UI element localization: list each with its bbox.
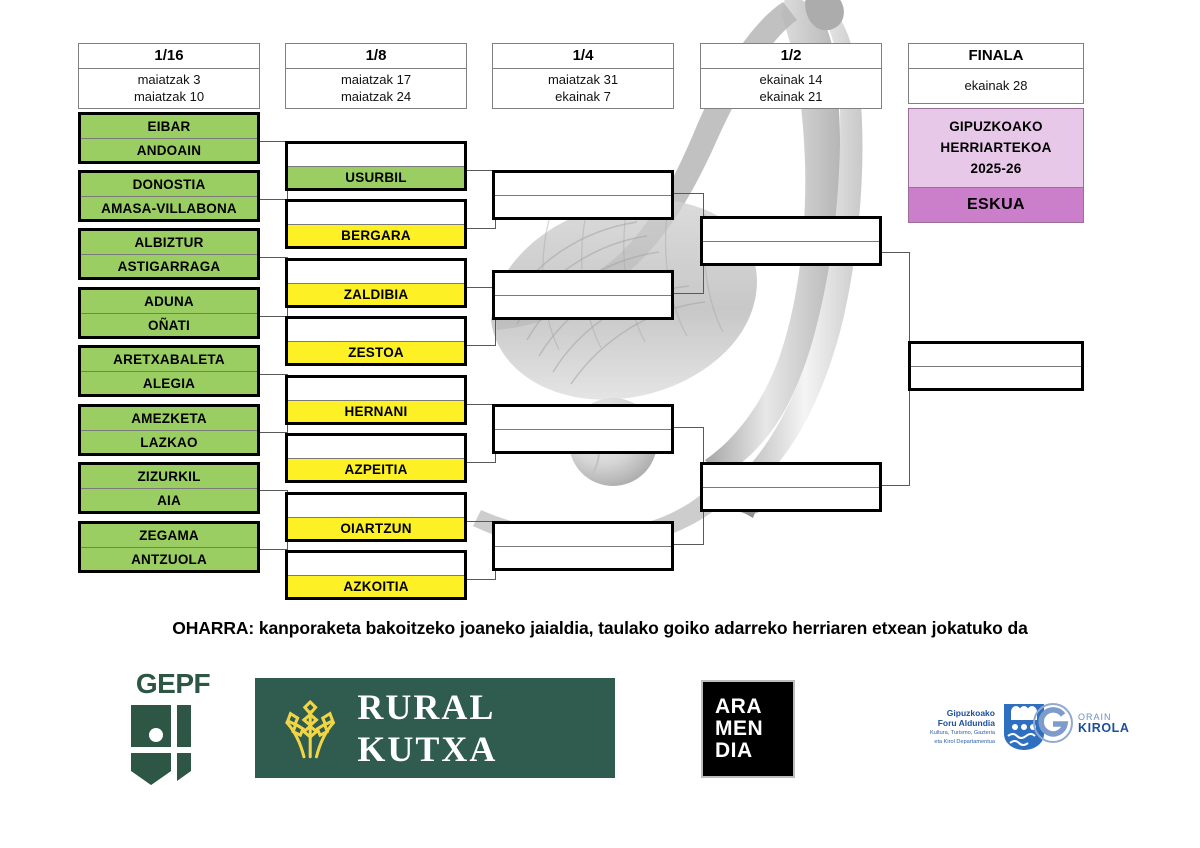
match-r8-5[interactable]: HERNANI [285,375,467,425]
team-slot[interactable] [495,195,671,217]
competition-modality: ESKUA [908,188,1084,223]
team-slot[interactable]: OÑATI [81,313,257,336]
team-slot[interactable]: ZALDIBIA [288,283,464,305]
team-slot[interactable]: ANTZUOLA [81,547,257,570]
team-slot[interactable]: HERNANI [288,400,464,422]
wheat-icon [277,692,343,764]
match-r8-8[interactable]: AZKOITIA [285,550,467,600]
team-slot[interactable]: LAZKAO [81,430,257,453]
match-r16-6[interactable]: AMEZKETA LAZKAO [78,404,260,456]
team-slot[interactable] [495,524,671,546]
match-r16-2[interactable]: DONOSTIA AMASA-VILLABONA [78,170,260,222]
team-slot[interactable]: ASTIGARRAGA [81,254,257,277]
competition-title-panel: GIPUZKOAKO HERRIARTEKOA 2025-26 ESKUA [908,108,1084,223]
match-sf-1[interactable] [700,216,882,266]
round-header-finala: FINALA ekainak 28 [908,43,1084,104]
round-dates: ekainak 14 ekainak 21 [700,69,882,109]
team-slot[interactable] [495,173,671,195]
round-title: 1/2 [700,43,882,69]
team-slot[interactable] [288,553,464,575]
match-qf-3[interactable] [492,404,674,454]
team-slot[interactable]: ADUNA [81,290,257,313]
match-r16-5[interactable]: ARETXABALETA ALEGIA [78,345,260,397]
bracket-page: 1/16 maiatzak 3 maiatzak 10 1/8 maiatzak… [0,0,1200,848]
orain-g-icon [1032,702,1074,744]
team-slot[interactable] [288,378,464,400]
round-date: maiatzak 24 [286,88,466,105]
connector [672,427,704,428]
round-header-1-2: 1/2 ekainak 14 ekainak 21 [700,43,882,109]
match-sf-2[interactable] [700,462,882,512]
round-dates: ekainak 28 [908,69,1084,104]
connector [464,345,496,346]
team-slot[interactable]: ZIZURKIL [81,465,257,488]
connector [464,462,496,463]
team-slot[interactable]: AIA [81,488,257,511]
team-slot[interactable] [288,144,464,166]
round-date: ekainak 7 [493,88,673,105]
round-date: maiatzak 10 [79,88,259,105]
match-r8-3[interactable]: ZALDIBIA [285,258,467,308]
team-slot[interactable] [911,366,1081,388]
round-header-1-8: 1/8 maiatzak 17 maiatzak 24 [285,43,467,109]
round-title: 1/16 [78,43,260,69]
connector [258,374,288,375]
connector [880,252,910,253]
match-r8-7[interactable]: OIARTZUN [285,492,467,542]
competition-line-2: HERRIARTEKOA [909,137,1083,158]
orain-text-block: ORAIN KIROLA [1078,712,1130,735]
team-slot[interactable]: ANDOAIN [81,138,257,161]
match-qf-1[interactable] [492,170,674,220]
match-r8-1[interactable]: USURBIL [285,141,467,191]
match-qf-4[interactable] [492,521,674,571]
match-final[interactable] [908,341,1084,391]
round-title: 1/8 [285,43,467,69]
orain-line-1: ORAIN [1078,712,1130,722]
team-slot[interactable]: AMASA-VILLABONA [81,196,257,219]
gfa-text-block: Gipuzkoako Foru Aldundia Kultura, Turism… [930,708,995,746]
connector [258,549,288,550]
team-slot[interactable]: OIARTZUN [288,517,464,539]
match-r16-4[interactable]: ADUNA OÑATI [78,287,260,339]
round-title: FINALA [908,43,1084,69]
gipuzkoako-foru-aldundia-logo: Gipuzkoako Foru Aldundia Kultura, Turism… [930,702,1046,752]
gfa-line-1: Gipuzkoako [930,708,995,718]
team-slot[interactable]: EIBAR [81,115,257,138]
competition-season: 2025-26 [909,158,1083,179]
team-slot[interactable]: AZKOITIA [288,575,464,597]
connector [258,257,288,258]
match-r8-6[interactable]: AZPEITIA [285,433,467,483]
team-slot[interactable]: ALBIZTUR [81,231,257,254]
team-slot[interactable] [288,319,464,341]
team-slot[interactable] [288,261,464,283]
round-dates: maiatzak 17 maiatzak 24 [285,69,467,109]
round-date: ekainak 28 [909,77,1083,94]
connector [258,490,288,491]
round-date: maiatzak 31 [493,71,673,88]
connector [672,293,704,294]
rural-kutxa-text: RURAL KUTXA [357,686,615,770]
sponsor-logos: GEPF [0,660,1200,810]
gepf-logo: GEPF [118,670,228,790]
match-r16-7[interactable]: ZIZURKIL AIA [78,462,260,514]
orain-line-2: KIROLA [1078,722,1130,735]
team-slot[interactable]: AZPEITIA [288,458,464,480]
connector [672,193,704,194]
aramendia-logo: ARA MEN DIA [701,680,795,778]
gepf-shield-icon [123,701,223,789]
team-slot[interactable] [288,436,464,458]
connector [880,485,910,486]
team-slot[interactable] [703,465,879,487]
match-qf-2[interactable] [492,270,674,320]
competition-line-1: GIPUZKOAKO [909,116,1083,137]
aramendia-line-1: ARA [703,696,793,718]
team-slot[interactable]: DONOSTIA [81,173,257,196]
round-date: maiatzak 17 [286,71,466,88]
round-title: 1/4 [492,43,674,69]
bracket-note: OHARRA: kanporaketa bakoitzeko joaneko j… [0,618,1200,639]
team-slot[interactable] [911,344,1081,366]
team-slot[interactable] [495,295,671,317]
round-date: maiatzak 3 [79,71,259,88]
connector [258,432,288,433]
team-slot[interactable] [495,407,671,429]
team-slot[interactable] [703,487,879,509]
team-slot[interactable]: ARETXABALETA [81,348,257,371]
team-slot[interactable] [288,202,464,224]
gfa-line-4: eta Kirol Departamentua [930,739,995,746]
team-slot[interactable] [495,429,671,451]
aramendia-line-2: MEN [703,718,793,740]
team-slot[interactable] [495,546,671,568]
match-r8-4[interactable]: ZESTOA [285,316,467,366]
gepf-logo-text: GEPF [118,670,228,698]
orain-kirola-logo: ORAIN KIROLA [1032,702,1130,744]
round-header-1-16: 1/16 maiatzak 3 maiatzak 10 [78,43,260,109]
competition-name-block: GIPUZKOAKO HERRIARTEKOA 2025-26 [908,108,1084,188]
team-slot[interactable]: USURBIL [288,166,464,188]
connector [672,544,704,545]
rural-kutxa-logo: RURAL KUTXA [255,678,615,778]
connector [258,316,288,317]
team-slot[interactable]: ALEGIA [81,371,257,394]
team-slot[interactable]: BERGARA [288,224,464,246]
team-slot[interactable]: AMEZKETA [81,407,257,430]
team-slot[interactable] [288,495,464,517]
aramendia-line-3: DIA [703,740,793,762]
round-header-1-4: 1/4 maiatzak 31 ekainak 7 [492,43,674,109]
match-r16-1[interactable]: EIBAR ANDOAIN [78,112,260,164]
team-slot[interactable]: ZESTOA [288,341,464,363]
round-dates: maiatzak 31 ekainak 7 [492,69,674,109]
team-slot[interactable] [703,241,879,263]
match-r16-3[interactable]: ALBIZTUR ASTIGARRAGA [78,228,260,280]
team-slot[interactable] [495,273,671,295]
gfa-line-3: Kultura, Turismo, Gazteria [930,730,995,737]
connector [258,199,288,200]
round-date: ekainak 14 [701,71,881,88]
match-r16-8[interactable]: ZEGAMA ANTZUOLA [78,521,260,573]
connector [464,579,496,580]
team-slot[interactable]: ZEGAMA [81,524,257,547]
team-slot[interactable] [703,219,879,241]
round-date: ekainak 21 [701,88,881,105]
round-dates: maiatzak 3 maiatzak 10 [78,69,260,109]
match-r8-2[interactable]: BERGARA [285,199,467,249]
connector [258,141,288,142]
connector [464,228,496,229]
gfa-line-2: Foru Aldundia [930,718,995,728]
